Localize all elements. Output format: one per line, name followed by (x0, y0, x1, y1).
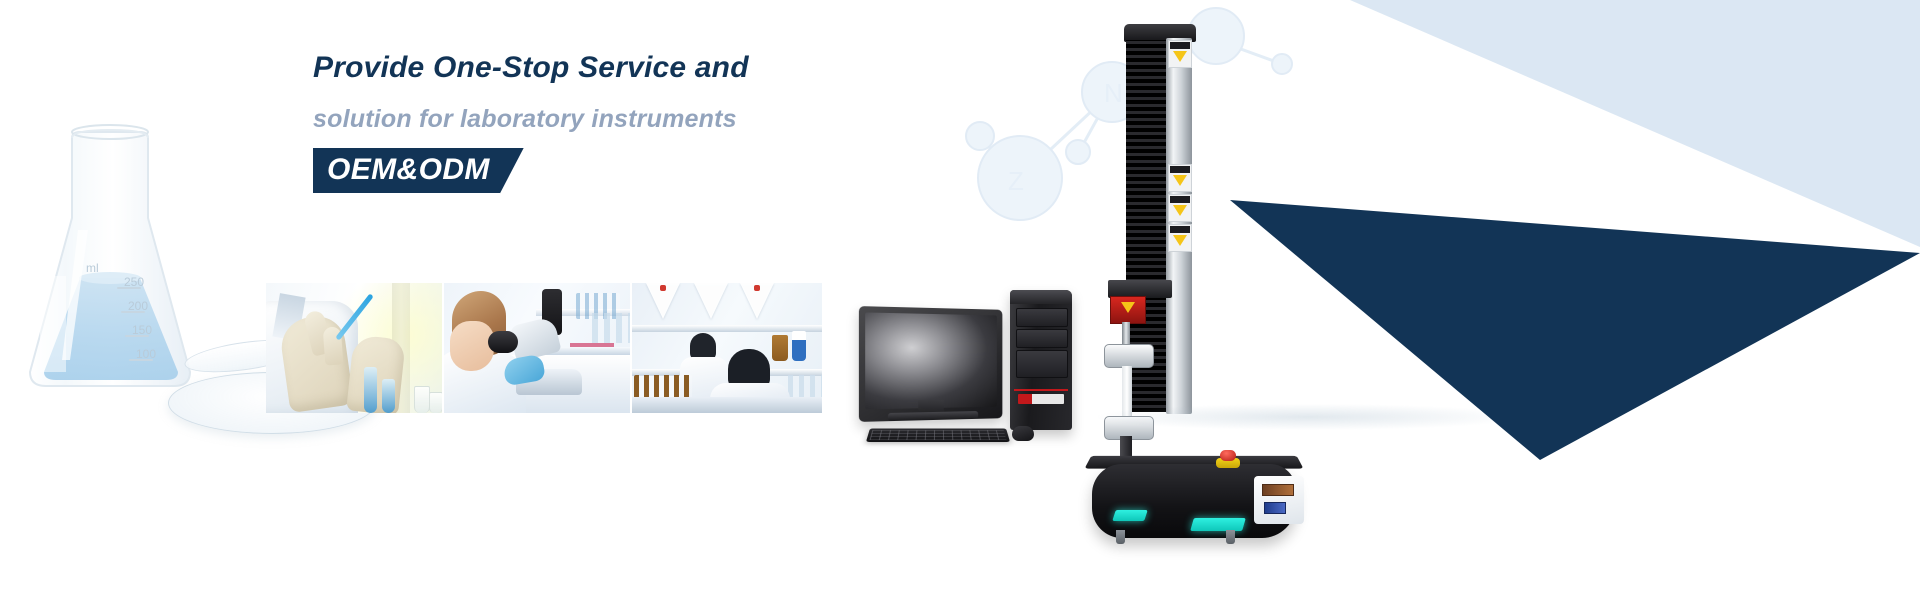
tester-upper-grip (1104, 344, 1154, 368)
computer-monitor (859, 306, 1002, 422)
svg-text:100: 100 (136, 347, 156, 361)
emergency-stop-button[interactable] (1220, 450, 1236, 461)
tester-accent-light (1190, 518, 1246, 531)
headline-primary: Provide One-Stop Service and (313, 52, 953, 84)
decorative-triangles (1200, 0, 1920, 597)
computer-tower (1010, 290, 1072, 430)
deco-triangle-light (1350, 0, 1920, 247)
tester-port-connector (1264, 502, 1286, 514)
computer-mouse (1012, 426, 1034, 441)
tester-port-connector (1262, 484, 1294, 496)
desktop-computer-workstation (860, 290, 1090, 450)
tester-warning-label-icon (1168, 224, 1192, 252)
universal-tensile-testing-machine (1098, 24, 1298, 464)
tester-load-cell (1110, 296, 1146, 324)
tester-warning-label-icon (1168, 164, 1192, 192)
svg-text:Z: Z (1008, 166, 1024, 196)
oem-odm-badge: OEM&ODM (313, 148, 500, 194)
photo-lab-technicians (632, 283, 822, 413)
tester-specimen (1122, 366, 1132, 418)
badge-arrow-tail (500, 148, 524, 194)
tester-accent-light (1112, 510, 1148, 521)
photo-gloved-hands-pipetting (266, 283, 442, 413)
photo-strip (266, 283, 822, 413)
svg-text:250: 250 (124, 275, 144, 289)
oem-odm-badge-label: OEM&ODM (313, 148, 500, 194)
tester-warning-label-icon (1168, 40, 1192, 68)
tester-warning-label-icon (1168, 194, 1192, 222)
promo-banner: Z N (0, 0, 1920, 597)
photo-researcher-microscope (444, 283, 630, 413)
deco-triangle-dark (1230, 200, 1920, 460)
svg-text:200: 200 (128, 299, 148, 313)
monitor-screen (865, 312, 997, 409)
computer-keyboard (866, 428, 1010, 442)
svg-text:ml: ml (86, 261, 99, 275)
headline-block: Provide One-Stop Service and solution fo… (313, 52, 953, 194)
svg-text:150: 150 (132, 323, 152, 337)
headline-secondary: solution for laboratory instruments (313, 106, 953, 132)
